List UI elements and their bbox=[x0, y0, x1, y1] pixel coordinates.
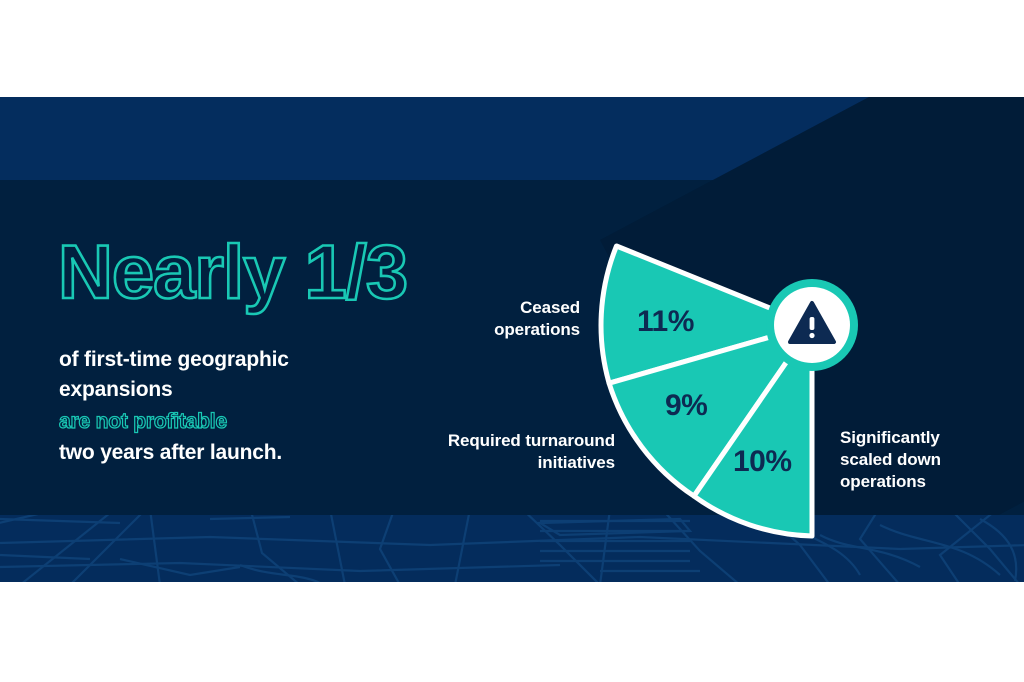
pie-value-label-1: 9% bbox=[665, 389, 707, 423]
infographic-banner: Nearly 1/3 of first-time geographic expa… bbox=[0, 97, 1024, 582]
warning-badge bbox=[766, 279, 858, 371]
pie-category-label-scaled-down: Significantly scaled down operations bbox=[840, 427, 1024, 492]
infographic-canvas: Nearly 1/3 of first-time geographic expa… bbox=[0, 0, 1024, 682]
pie-chart: 11% 9% 10% Ceased operations Required tu… bbox=[0, 97, 1024, 582]
pie-value-label-0: 11% bbox=[637, 305, 694, 339]
pie-category-label-ceased-operations: Ceased operations bbox=[400, 297, 580, 341]
pie-category-label-required-turnaround: Required turnaround initiatives bbox=[330, 430, 615, 474]
pie-value-label-2: 10% bbox=[733, 445, 792, 479]
